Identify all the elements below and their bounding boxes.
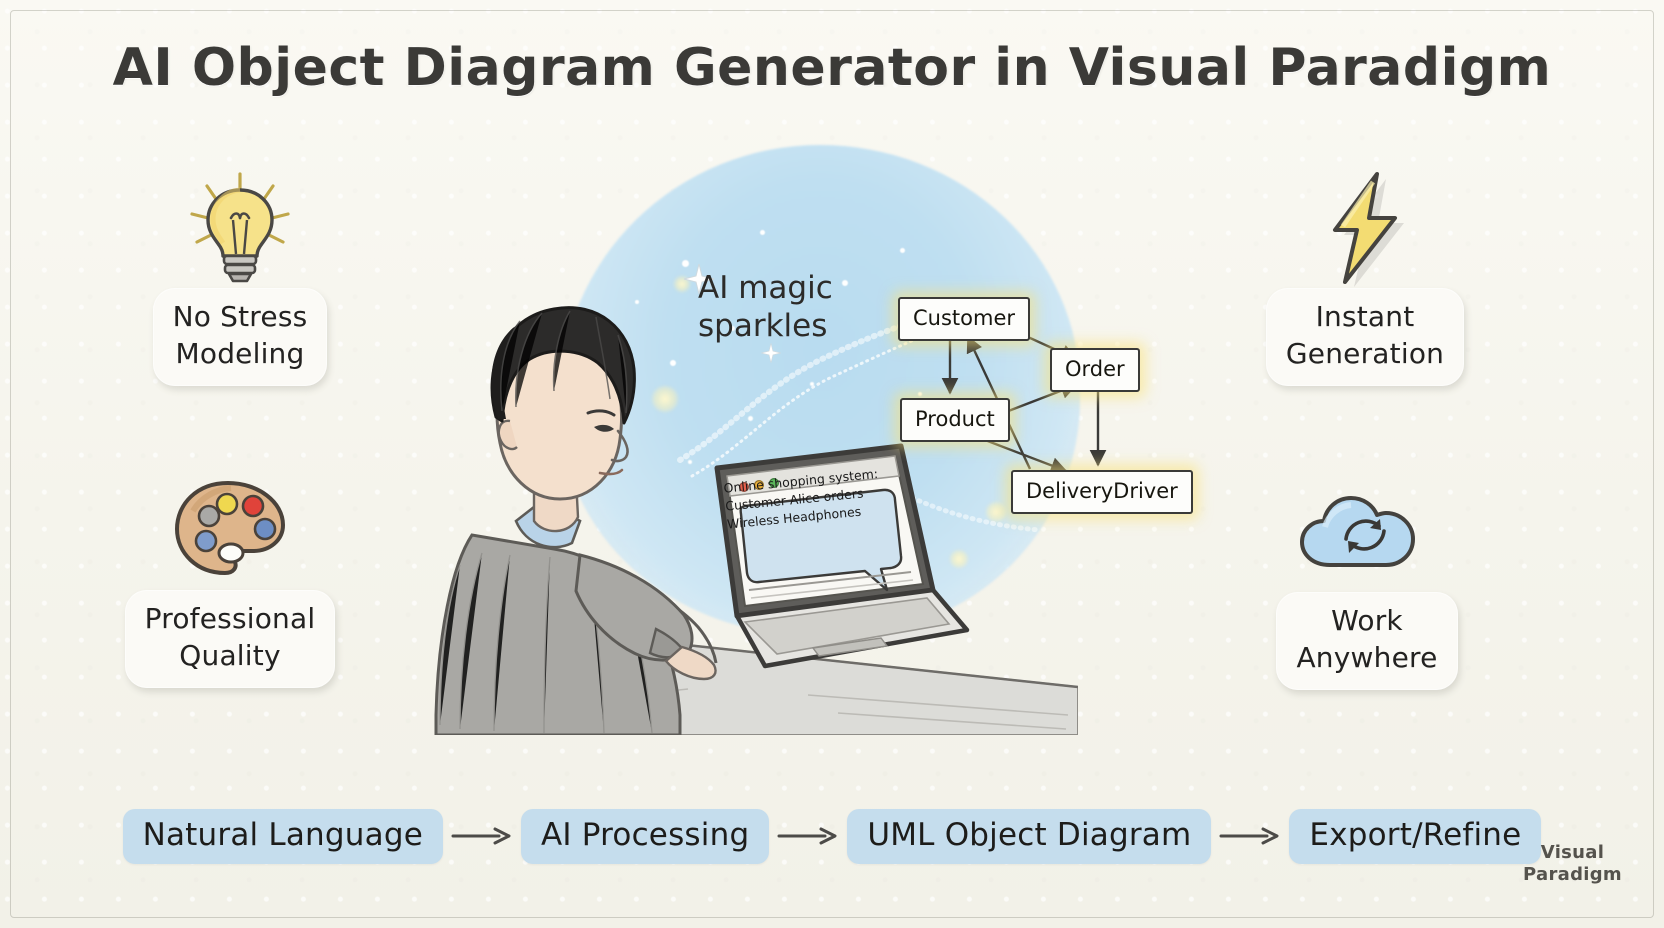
pipeline-step-uml-object-diagram[interactable]: UML Object Diagram [847,809,1211,864]
feature-label-line1: Professional [145,602,316,635]
visual-paradigm-watermark: Visual Paradigm [1523,842,1622,886]
feature-label-line1: Work [1331,604,1403,637]
pipeline-step-ai-processing[interactable]: AI Processing [521,809,769,864]
feature-label-line2: Modeling [176,337,305,370]
process-pipeline: Natural Language AI Processing UML Objec… [0,800,1664,872]
feature-card-no-stress-modeling: No Stress Modeling [115,168,365,386]
uml-object-diagram: Customer Order Product DeliveryDriver [880,275,1190,525]
person-illustration [430,235,720,735]
feature-label-no-stress-modeling: No Stress Modeling [153,288,328,386]
pipeline-step-export-refine[interactable]: Export/Refine [1289,809,1541,864]
uml-node-product[interactable]: Product [900,398,1010,442]
right-arrow-icon [451,823,513,849]
feature-label-work-anywhere: Work Anywhere [1276,592,1457,690]
watermark-line1: Visual [1523,842,1622,864]
page-title: AI Object Diagram Generator in Visual Pa… [0,38,1664,98]
feature-label-line2: Quality [179,639,280,672]
lightbulb-icon [115,168,365,288]
uml-node-customer[interactable]: Customer [898,297,1030,341]
cloud-sync-icon [1242,472,1492,592]
feature-label-professional-quality: Professional Quality [125,590,336,688]
uml-node-order[interactable]: Order [1050,348,1140,392]
feature-label-line1: No Stress [173,300,308,333]
artist-palette-icon [105,470,355,590]
right-arrow-icon [777,823,839,849]
uml-node-deliverydriver[interactable]: DeliveryDriver [1011,470,1193,514]
feature-label-line2: Anywhere [1296,641,1437,674]
feature-card-instant-generation: Instant Generation [1240,168,1490,386]
feature-card-professional-quality: Professional Quality [105,470,355,688]
feature-label-line1: Instant [1316,300,1415,333]
sparkle-star-icon [760,342,782,368]
watermark-line2: Paradigm [1523,864,1622,886]
feature-label-line2: Generation [1286,337,1444,370]
feature-label-instant-generation: Instant Generation [1266,288,1464,386]
pipeline-step-natural-language[interactable]: Natural Language [123,809,443,864]
lightning-bolt-icon [1240,168,1490,288]
feature-card-work-anywhere: Work Anywhere [1242,472,1492,690]
right-arrow-icon [1219,823,1281,849]
